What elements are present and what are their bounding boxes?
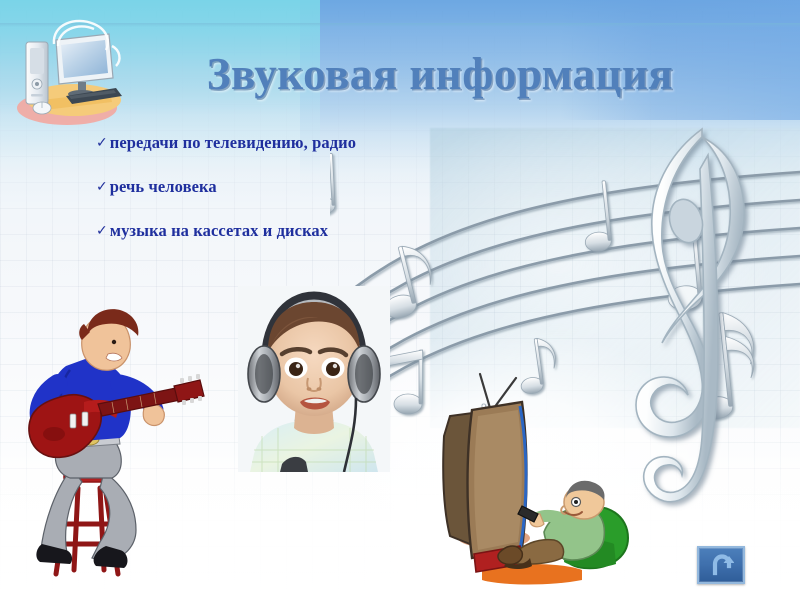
bullet-item-2: ✓ речь человека bbox=[96, 177, 516, 197]
bullet-item-1-label: передачи по телевидению, радио bbox=[110, 133, 356, 153]
checkmark-icon: ✓ bbox=[96, 180, 108, 194]
bullet-item-1: ✓ передачи по телевидению, радио bbox=[96, 133, 516, 153]
slide-title: Звуковая информация bbox=[170, 52, 710, 97]
bullet-item-2-label: речь человека bbox=[110, 177, 217, 197]
checkmark-icon: ✓ bbox=[96, 224, 108, 238]
man-playing-guitar-illustration bbox=[8, 292, 213, 592]
return-navigation-button[interactable] bbox=[697, 546, 745, 584]
bullet-item-3-label: музыка на кассетах и дисках bbox=[110, 221, 328, 241]
bullet-item-3: ✓ музыка на кассетах и дисках bbox=[96, 221, 516, 241]
u-turn-arrow-icon bbox=[708, 554, 734, 576]
baby-with-headphones-photo bbox=[238, 286, 390, 472]
desktop-computer-icon bbox=[12, 16, 134, 128]
checkmark-icon: ✓ bbox=[96, 136, 108, 150]
bullet-list: ✓ передачи по телевидению, радио ✓ речь … bbox=[96, 133, 516, 265]
presentation-slide: Звуковая информация ✓ передачи по телеви… bbox=[0, 0, 800, 600]
man-watching-tv-illustration bbox=[432, 372, 660, 592]
